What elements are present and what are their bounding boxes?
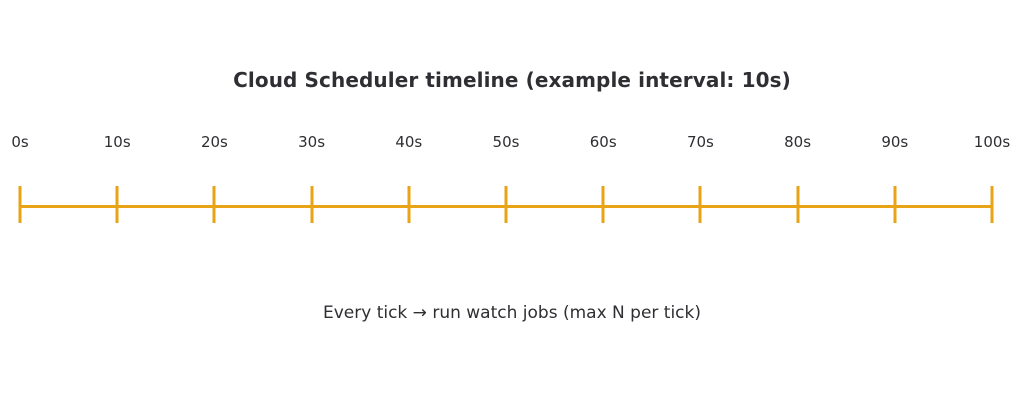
tick-label: 30s [298, 131, 325, 153]
tick-mark [116, 186, 119, 223]
tick-label-row: 0s10s20s30s40s50s60s70s80s90s100s [0, 131, 1024, 153]
tick-label: 100s [974, 131, 1010, 153]
tick-mark [407, 186, 410, 223]
timeline-figure: Cloud Scheduler timeline (example interv… [0, 0, 1024, 410]
tick-label: 40s [395, 131, 422, 153]
tick-mark [991, 186, 994, 223]
tick-label: 10s [104, 131, 131, 153]
tick-label: 90s [881, 131, 908, 153]
tick-label: 80s [784, 131, 811, 153]
tick-mark [602, 186, 605, 223]
tick-mark [310, 186, 313, 223]
tick-label: 20s [201, 131, 228, 153]
tick-label: 50s [493, 131, 520, 153]
tick-mark-group [0, 186, 1024, 223]
tick-mark [699, 186, 702, 223]
chart-caption: Every tick → run watch jobs (max N per t… [0, 303, 1024, 323]
tick-label: 0s [11, 131, 28, 153]
tick-mark [19, 186, 22, 223]
tick-label: 70s [687, 131, 714, 153]
page-title: Cloud Scheduler timeline (example interv… [0, 68, 1024, 92]
tick-mark [893, 186, 896, 223]
tick-mark [213, 186, 216, 223]
tick-mark [505, 186, 508, 223]
tick-label: 60s [590, 131, 617, 153]
tick-mark [796, 186, 799, 223]
